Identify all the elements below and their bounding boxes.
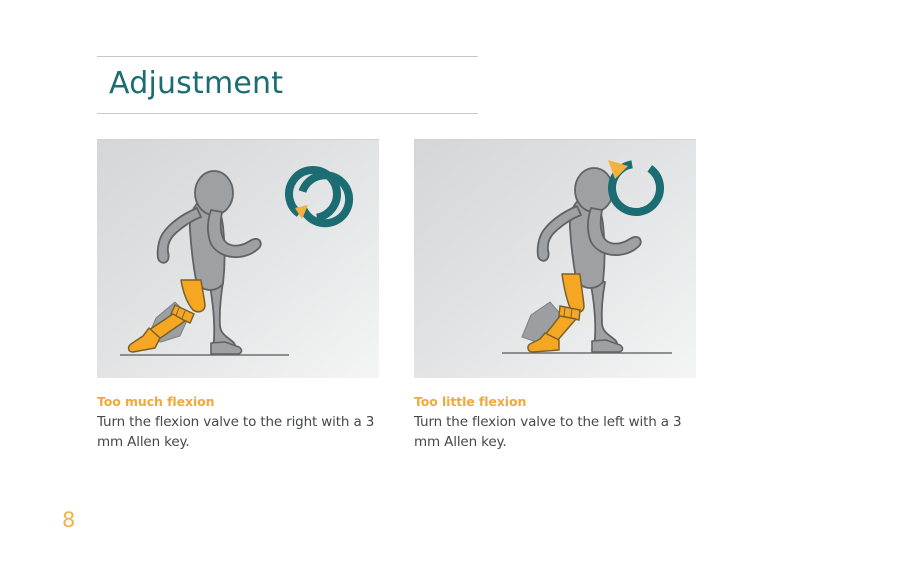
caption-title: Too much flexion (97, 393, 379, 411)
header-rule-bottom (97, 113, 478, 114)
caption-title: Too little flexion (414, 393, 696, 411)
caption-body: Turn the flexion valve to the left with … (414, 411, 696, 452)
figure-head (575, 168, 613, 212)
page-title: Adjustment (97, 57, 478, 113)
illustration-too-little-flexion (414, 140, 696, 378)
caption-too-much-flexion: Too much flexion Turn the flexion valve … (97, 378, 379, 452)
caption-body: Turn the flexion valve to the right with… (97, 411, 379, 452)
figure-head (195, 171, 233, 215)
page-number: 8 (62, 508, 75, 532)
page-header: Adjustment (97, 56, 478, 114)
panel-too-little-flexion: Too little flexion Turn the flexion valv… (414, 139, 696, 452)
illustration-too-much-flexion (97, 140, 379, 378)
illustration-panels: Too much flexion Turn the flexion valve … (97, 139, 697, 452)
panel-too-much-flexion: Too much flexion Turn the flexion valve … (97, 139, 379, 452)
caption-too-little-flexion: Too little flexion Turn the flexion valv… (414, 378, 696, 452)
